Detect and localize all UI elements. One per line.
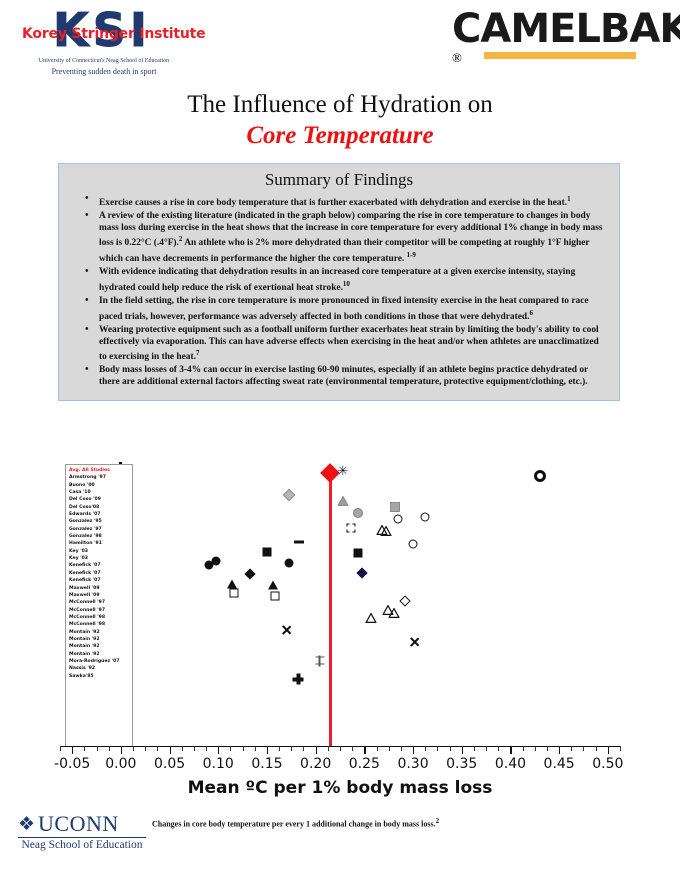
ksi-jersey-number: 77 (153, 12, 170, 26)
x-axis-minor-tick (352, 746, 353, 751)
x-axis-ticks (60, 746, 620, 756)
legend-item: McConnell '97 (69, 599, 130, 606)
ksi-logo: KSI 77 Korey Stringer Institute Universi… (18, 4, 198, 86)
registered-trademark-icon: ® (452, 50, 462, 65)
x-axis-minor-tick (194, 746, 195, 751)
data-point-x (281, 625, 292, 636)
data-point-navy-diamond (357, 567, 368, 578)
x-axis-tick-label: 0.30 (397, 756, 428, 772)
x-axis-minor-tick (60, 746, 61, 751)
legend-item: Maxwell '09 (69, 592, 130, 599)
data-point-open-square (270, 592, 279, 601)
data-point-open-circle (420, 513, 429, 522)
chart-legend-list: Avg. All StudiesArmstrong '97Buono '00Ca… (69, 467, 130, 680)
data-point-filled-square (262, 548, 271, 557)
summary-bullet-list: Exercise causes a rise in core body temp… (69, 194, 609, 389)
legend-item: McConnell '97 (69, 607, 130, 614)
legend-item: Montain '92 (69, 643, 130, 650)
x-axis-minor-tick (583, 746, 584, 751)
legend-item: Edwards '07 (69, 511, 130, 518)
uconn-logo-row: ❖ UCONN (18, 812, 148, 836)
scatter-chart: ✳ Avg. All StudiesArmstrong '97Buono '00… (60, 462, 620, 792)
legend-item: Kenefick '07 (69, 570, 130, 577)
x-axis-minor-tick (328, 746, 329, 751)
data-point-filled-circle (212, 557, 221, 566)
ksi-institute-name: Korey Stringer Institute (22, 26, 182, 42)
data-point-gray-diamond (283, 488, 296, 501)
x-axis-minor-tick (97, 746, 98, 751)
x-axis-tick-label: 0.45 (544, 756, 575, 772)
x-axis-tick-label: 0.20 (300, 756, 331, 772)
x-axis-minor-tick (596, 746, 597, 751)
data-point-filled-triangle (227, 579, 237, 588)
data-point-open-triangle (366, 613, 377, 623)
x-axis-minor-tick (279, 746, 280, 751)
x-axis-major-tick (121, 746, 122, 754)
camelbak-logo: CAMELBAK® (452, 8, 662, 66)
x-axis-major-tick (267, 746, 268, 754)
x-axis-minor-tick (291, 746, 292, 751)
x-axis-minor-tick (255, 746, 256, 751)
legend-item: Montain '92 (69, 629, 130, 636)
x-axis-minor-tick (157, 746, 158, 751)
legend-item: Avg. All Studies (69, 467, 130, 474)
x-axis-minor-tick (523, 746, 524, 751)
x-axis-minor-tick (84, 746, 85, 751)
x-axis-minor-tick (303, 746, 304, 751)
poster-header: KSI 77 Korey Stringer Institute Universi… (0, 0, 680, 88)
x-axis-major-tick (413, 746, 414, 754)
x-axis-minor-tick (340, 746, 341, 751)
data-point-plus (293, 674, 304, 685)
summary-bullet: Wearing protective equipment such as a f… (99, 325, 603, 364)
uconn-divider (18, 837, 146, 838)
data-point-filled-square (353, 549, 362, 558)
uconn-logo: ❖ UCONN Neag School of Education (18, 812, 148, 851)
title-line-accent: Core Temperature (0, 120, 680, 152)
x-axis-tick-label: 0.15 (251, 756, 282, 772)
poster-page: KSI 77 Korey Stringer Institute Universi… (0, 0, 680, 882)
legend-item: Armstrong '97 (69, 474, 130, 481)
legend-item: Montain '92 (69, 636, 130, 643)
data-point-i-beam (315, 655, 324, 666)
summary-heading: Summary of Findings (69, 170, 609, 190)
x-axis-minor-tick (620, 746, 621, 751)
x-axis-tick-labels: -0.050.000.050.100.150.200.250.300.350.4… (60, 756, 620, 776)
legend-item: Gonzalez '97 (69, 526, 130, 533)
chart-legend[interactable]: Avg. All StudiesArmstrong '97Buono '00Ca… (65, 464, 133, 747)
data-point-filled-circle (285, 558, 294, 567)
oak-leaf-icon: ❖ (18, 815, 35, 834)
x-axis-major-tick (72, 746, 73, 754)
legend-item: Maxwell '09 (69, 585, 130, 592)
significance-star-icon: ✳ (337, 467, 348, 477)
data-point-gray-circle (353, 508, 363, 518)
data-point-open-circle (409, 539, 418, 548)
figure-caption: Changes in core body temperature per eve… (152, 817, 572, 829)
summary-of-findings-box: Summary of Findings Exercise causes a ri… (58, 163, 620, 401)
x-axis-minor-tick (474, 746, 475, 751)
x-axis-minor-tick (377, 746, 378, 751)
data-point-gray-square (390, 502, 400, 512)
x-axis-tick-label: 0.50 (592, 756, 623, 772)
x-axis-minor-tick (145, 746, 146, 751)
legend-item: Kenefick '07 (69, 562, 130, 569)
x-axis-minor-tick (547, 746, 548, 751)
ksi-logomark: KSI 77 Korey Stringer Institute (18, 4, 186, 62)
data-point-x (409, 636, 420, 647)
chart-plot-area: ✳ Avg. All StudiesArmstrong '97Buono '00… (60, 462, 620, 752)
data-point-open-triangle (388, 608, 399, 618)
x-axis-tick-label: 0.00 (105, 756, 136, 772)
legend-item: Nassis '92 (69, 665, 130, 672)
data-point-open-square (229, 588, 238, 597)
x-axis-major-tick (462, 746, 463, 754)
x-axis-minor-tick (437, 746, 438, 751)
legend-item: Key '03 (69, 548, 130, 555)
x-axis-major-tick (364, 746, 365, 754)
legend-item: McConnell '98 (69, 614, 130, 621)
x-axis-minor-tick (571, 746, 572, 751)
camelbak-underline-bar (484, 52, 636, 59)
x-axis-minor-tick (109, 746, 110, 751)
x-axis-major-tick (608, 746, 609, 754)
x-axis-minor-tick (425, 746, 426, 751)
x-axis-major-tick (218, 746, 219, 754)
summary-bullet: In the field setting, the rise in core t… (99, 296, 603, 323)
summary-bullet: Body mass losses of 3-4% can occur in ex… (99, 365, 603, 388)
legend-item: Kenefick '07 (69, 577, 130, 584)
legend-item: Gonzalez '95 (69, 518, 130, 525)
data-point-open-circle (394, 514, 403, 523)
x-axis-title: Mean ºC per 1% body mass loss (60, 778, 620, 798)
data-point-open-triangle (380, 526, 391, 536)
x-axis-tick-label: 0.05 (154, 756, 185, 772)
x-axis-minor-tick (389, 746, 390, 751)
legend-item: Del Coso '09 (69, 496, 130, 503)
x-axis-minor-tick (535, 746, 536, 751)
x-axis-tick-label: -0.05 (54, 756, 90, 772)
summary-bullet: A review of the existing literature (ind… (99, 211, 603, 266)
x-axis-tick-label: 0.10 (203, 756, 234, 772)
legend-item: Montain '92 (69, 651, 130, 658)
x-axis-minor-tick (182, 746, 183, 751)
data-point-filled-triangle (268, 580, 278, 589)
camelbak-wordmark: CAMELBAK (452, 8, 680, 50)
ksi-affiliation: University of Connecticut's Neag School … (18, 58, 190, 64)
legend-item: Gonzalez '98 (69, 533, 130, 540)
ksi-tagline: Preventing sudden death in sport (18, 67, 190, 76)
uconn-school-name: Neag School of Education (18, 839, 146, 851)
legend-item: Casa '10 (69, 489, 130, 496)
title-line-primary: The Influence of Hydration on (0, 90, 680, 120)
x-axis-tick-label: 0.40 (495, 756, 526, 772)
legend-item: Del Coso'08 (69, 504, 130, 511)
x-axis-major-tick (316, 746, 317, 754)
summary-bullet: With evidence indicating that dehydratio… (99, 267, 603, 294)
x-axis-minor-tick (450, 746, 451, 751)
data-point-filled-diamond (245, 569, 256, 580)
data-point-open-diamond (400, 595, 411, 606)
data-point-dashed-square (346, 523, 355, 532)
x-axis-minor-tick (498, 746, 499, 751)
x-axis-minor-tick (243, 746, 244, 751)
data-point-gray-triangle (337, 496, 348, 506)
x-axis-major-tick (559, 746, 560, 754)
legend-item: Sawka'85 (69, 673, 130, 680)
chart-marker-layer: ✳ (60, 462, 620, 746)
legend-item: Key '03 (69, 555, 130, 562)
uconn-wordmark: UCONN (38, 812, 119, 836)
summary-bullet: Exercise causes a rise in core body temp… (99, 194, 603, 210)
data-point-dash (294, 540, 304, 543)
x-axis-major-tick (170, 746, 171, 754)
x-axis-minor-tick (230, 746, 231, 751)
legend-item: Buono '00 (69, 482, 130, 489)
x-axis-tick-label: 0.35 (446, 756, 477, 772)
legend-item: McConnell '98 (69, 621, 130, 628)
x-axis-minor-tick (206, 746, 207, 751)
x-axis-minor-tick (401, 746, 402, 751)
poster-footer: ❖ UCONN Neag School of Education Changes… (0, 808, 680, 878)
legend-item: Hamilton '91 (69, 540, 130, 547)
x-axis-tick-label: 0.25 (349, 756, 380, 772)
x-axis-major-tick (510, 746, 511, 754)
x-axis-minor-tick (133, 746, 134, 751)
legend-item: Mora-Rodriguez '07 (69, 658, 130, 665)
page-title: The Influence of Hydration on Core Tempe… (0, 90, 680, 152)
x-axis-minor-tick (486, 746, 487, 751)
data-point-donut-circle (534, 470, 546, 482)
